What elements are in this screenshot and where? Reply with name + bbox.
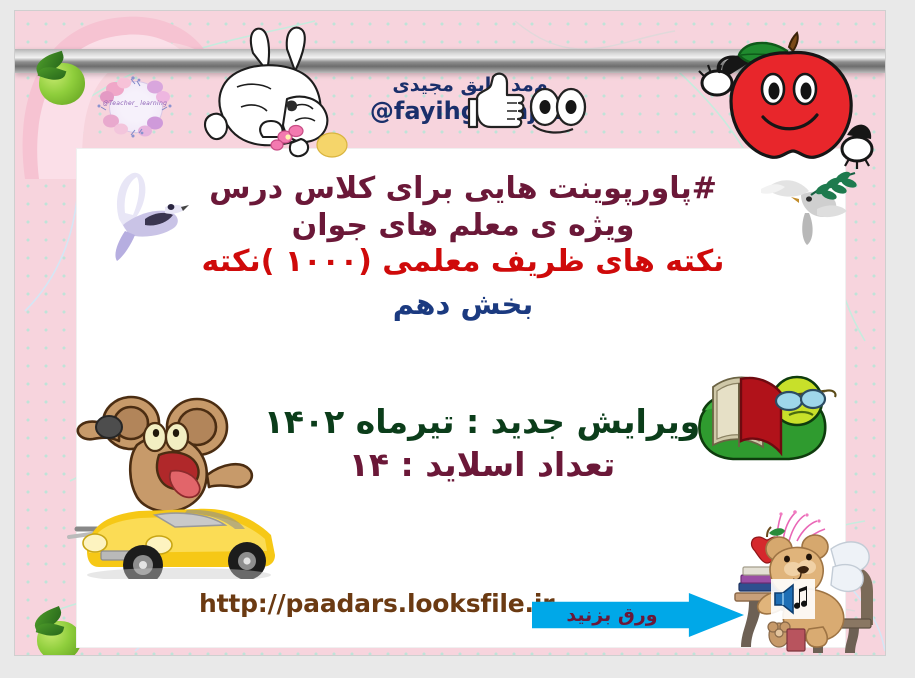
logo-text: @Teacher_ learning bbox=[93, 100, 177, 107]
next-slide-button[interactable]: ورق بزنید bbox=[532, 593, 744, 637]
next-slide-label: ورق بزنید bbox=[538, 593, 686, 637]
dove-with-olive-branch bbox=[751, 161, 861, 253]
thumbs-up-hand bbox=[467, 69, 529, 139]
title-group: #پاورپوینت هایی برای کلاس درس ویژه ی معل… bbox=[157, 171, 769, 322]
website-url[interactable]: http://paadars.looksfile.ir bbox=[199, 589, 529, 618]
googly-eyes bbox=[525, 85, 591, 135]
bookworm-reading bbox=[685, 361, 845, 467]
speaker-audio-icon[interactable] bbox=[771, 579, 815, 619]
slide-canvas: @Teacher_ learning bbox=[0, 0, 915, 678]
rabbit-with-egg bbox=[191, 25, 361, 161]
title-line-4: بخش دهم bbox=[157, 287, 769, 322]
pink-dotted-background: @Teacher_ learning bbox=[14, 10, 886, 656]
flying-dove bbox=[95, 163, 195, 267]
title-line-3: نکته های ظریف معلمی (۱۰۰۰ )نکته bbox=[157, 244, 769, 281]
smiling-red-apple bbox=[697, 31, 877, 171]
title-line-1: #پاورپوینت هایی برای کلاس درس bbox=[157, 171, 769, 208]
green-apple-top-left bbox=[33, 53, 89, 105]
teacher-learning-logo: @Teacher_ learning bbox=[93, 73, 177, 139]
title-line-2: ویژه ی معلم های جوان bbox=[157, 208, 769, 245]
mouse-in-yellow-car bbox=[59, 379, 299, 579]
